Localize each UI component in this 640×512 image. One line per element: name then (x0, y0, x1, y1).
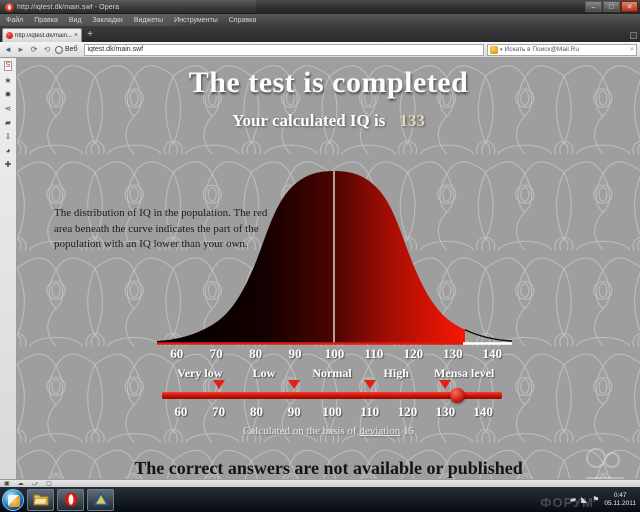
iq-test-result-page: The test is completed Your calculated IQ… (17, 58, 640, 486)
browser-content-row: S ★ ✹ ⋖ ▰ ⇩ ◕ ✚ (0, 58, 640, 486)
search-input[interactable]: Искать в Поиск@Mail.Ru (505, 46, 629, 53)
menu-item-widgets[interactable]: Виджеты (134, 17, 163, 24)
deviation-note-suffix: 15 (400, 425, 414, 437)
sync-icon[interactable]: ⤻ (32, 481, 38, 487)
iq-score-marker[interactable] (450, 388, 465, 403)
windows-taskbar: ▣ ☁ ⤻ ▢ ФОРУМ ▰ ◣ (0, 486, 640, 512)
quick-launch-strip: ▣ ☁ ⤻ ▢ (0, 479, 640, 487)
iq-band-scale: Very lowLowNormalHighMensa level 6070809… (17, 366, 640, 426)
no-answers-notice: The correct answers are not available or… (17, 458, 640, 479)
archive-icon (93, 492, 109, 507)
desktop: http://iqtest.dk/main.swf - Opera – □ ✕ … (0, 0, 640, 512)
iq-result-line: Your calculated IQ is133 (17, 111, 640, 131)
band-label-normal: Normal (312, 366, 351, 381)
minimize-button[interactable]: – (585, 1, 602, 12)
chart-tick-120: 120 (404, 346, 424, 362)
web-label: Веб (65, 46, 78, 53)
scale-marker-130 (439, 380, 451, 389)
chart-tick-140: 140 (483, 346, 503, 362)
clock-date: 05.11.2011 (604, 500, 636, 508)
band-label-row: Very lowLowNormalHighMensa level (17, 366, 640, 382)
network-icon[interactable]: ▰ (570, 496, 576, 504)
add-panel-icon[interactable]: ✚ (5, 161, 12, 169)
band-label-very-low: Very low (177, 366, 222, 381)
scale-tick-60: 60 (174, 404, 187, 420)
tab-close-icon[interactable]: × (74, 32, 78, 39)
address-bar[interactable]: iqtest.dk/main.swf (84, 44, 485, 56)
menu-item-file[interactable]: Файл (6, 17, 23, 24)
close-button[interactable]: ✕ (621, 1, 638, 12)
downloads-icon[interactable]: ⇩ (5, 133, 12, 141)
opera-icon (63, 492, 79, 507)
history-clock-icon[interactable]: ◕ (6, 147, 11, 155)
forum-watermark-icon (582, 446, 628, 482)
window-title: http://iqtest.dk/main.swf - Opera (17, 4, 119, 11)
chart-tick-80: 80 (249, 346, 262, 362)
menu-item-view[interactable]: Вид (69, 17, 82, 24)
scale-tick-row: 60708090100110120130140 (17, 404, 640, 420)
chart-tick-60: 60 (170, 346, 183, 362)
scale-marker-90 (288, 380, 300, 389)
deviation-note-prefix: Calculated on the basis of (243, 425, 359, 437)
taskbar-app-opera[interactable] (57, 489, 84, 511)
chart-tick-110: 110 (365, 346, 384, 362)
magnifier-icon[interactable]: ⌕ (630, 46, 634, 54)
new-tab-button[interactable]: + (87, 30, 93, 40)
chart-tick-90: 90 (289, 346, 302, 362)
chart-tick-row: 60708090100110120130140 (17, 346, 640, 362)
scale-tick-90: 90 (288, 404, 301, 420)
search-engine-icon[interactable] (490, 46, 498, 54)
back-arrow-icon[interactable]: ◄ (3, 46, 13, 54)
rewind-icon[interactable]: ⟲ (42, 46, 52, 54)
scale-tick-130: 130 (436, 404, 456, 420)
scale-tick-120: 120 (398, 404, 418, 420)
address-bar-value: iqtest.dk/main.swf (88, 46, 144, 53)
tab-favicon-icon (6, 32, 13, 39)
action-center-icon[interactable]: ⚑ (592, 496, 599, 504)
page-title: The test is completed (17, 66, 640, 100)
scale-marker-70 (213, 380, 225, 389)
chevron-down-icon[interactable]: ▾ (500, 47, 503, 53)
iq-value: 133 (399, 111, 425, 130)
forward-arrow-icon[interactable]: ► (16, 46, 26, 54)
scale-tick-110: 110 (360, 404, 379, 420)
bookmarks-star-icon[interactable]: ★ (4, 77, 11, 85)
tab-iqtest[interactable]: http://iqtest.dk/main... × (2, 28, 82, 42)
start-button[interactable] (2, 489, 24, 511)
speed-dial-icon[interactable]: S (4, 61, 13, 71)
opera-side-panel: S ★ ✹ ⋖ ▰ ⇩ ◕ ✚ (0, 58, 17, 486)
maximize-button[interactable]: □ (603, 1, 620, 12)
menu-item-edit[interactable]: Правка (34, 17, 58, 24)
tab-label: http://iqtest.dk/main... (15, 33, 72, 39)
scale-tick-70: 70 (212, 404, 225, 420)
menu-item-help[interactable]: Справка (229, 17, 256, 24)
deviation-link[interactable]: deviation (359, 425, 400, 437)
band-label-mensa-level: Mensa level (434, 366, 494, 381)
chart-tick-130: 130 (443, 346, 463, 362)
quick-launch-icon[interactable]: ▣ (4, 481, 10, 487)
scale-marker-110 (364, 380, 376, 389)
opera-logo-icon (5, 3, 14, 12)
scale-tick-100: 100 (322, 404, 342, 420)
iq-distribution-chart (157, 163, 512, 368)
deviation-note: Calculated on the basis of deviation 15 (17, 425, 640, 437)
volume-icon[interactable]: ◣ (581, 496, 587, 504)
camera-icon[interactable]: ▢ (46, 481, 52, 487)
folder-icon (33, 492, 49, 507)
tab-strip: http://iqtest.dk/main... × + (0, 26, 640, 42)
clock[interactable]: 0:47 05.11.2011 (604, 492, 636, 508)
globe-icon (55, 46, 63, 54)
reload-icon[interactable]: ⟳ (29, 46, 39, 54)
scale-tick-80: 80 (250, 404, 263, 420)
weather-icon[interactable]: ☁ (18, 481, 24, 487)
navigation-toolbar: ◄ ► ⟳ ⟲ Веб iqtest.dk/main.swf ▾ Искать … (0, 42, 640, 58)
taskbar-app-archive-tool[interactable] (87, 489, 114, 511)
chart-axis-labels: 60708090100110120130140 (17, 346, 640, 362)
window-controls[interactable]: – □ ✕ (585, 1, 638, 12)
menu-item-tools[interactable]: Инструменты (174, 17, 218, 24)
opera-browser-window: http://iqtest.dk/main.swf - Opera – □ ✕ … (0, 0, 640, 486)
scale-tick-140: 140 (473, 404, 493, 420)
menu-item-bookmarks[interactable]: Закладки (93, 17, 123, 24)
menu-bar[interactable]: Файл Правка Вид Закладки Виджеты Инструм… (0, 14, 640, 26)
search-box[interactable]: ▾ Искать в Поиск@Mail.Ru ⌕ (487, 44, 637, 56)
system-tray: ▰ ◣ ⚑ 0:47 05.11.2011 (570, 487, 638, 512)
web-search-mode-badge[interactable]: Веб (55, 46, 81, 54)
chart-tick-100: 100 (325, 346, 345, 362)
chart-tick-70: 70 (210, 346, 223, 362)
band-label-low: Low (253, 366, 276, 381)
unite-share-icon[interactable]: ⋖ (5, 105, 12, 113)
clock-time: 0:47 (614, 492, 627, 500)
notes-icon[interactable]: ▰ (5, 119, 11, 127)
tabstrip-menu-icon[interactable] (630, 32, 637, 39)
iq-result-label: Your calculated IQ is (232, 111, 385, 130)
taskbar-app-windows-explorer[interactable] (27, 489, 54, 511)
window-titlebar[interactable]: http://iqtest.dk/main.swf - Opera – □ ✕ (0, 0, 640, 14)
widgets-gear-icon[interactable]: ✹ (5, 91, 12, 99)
band-label-high: High (384, 366, 409, 381)
